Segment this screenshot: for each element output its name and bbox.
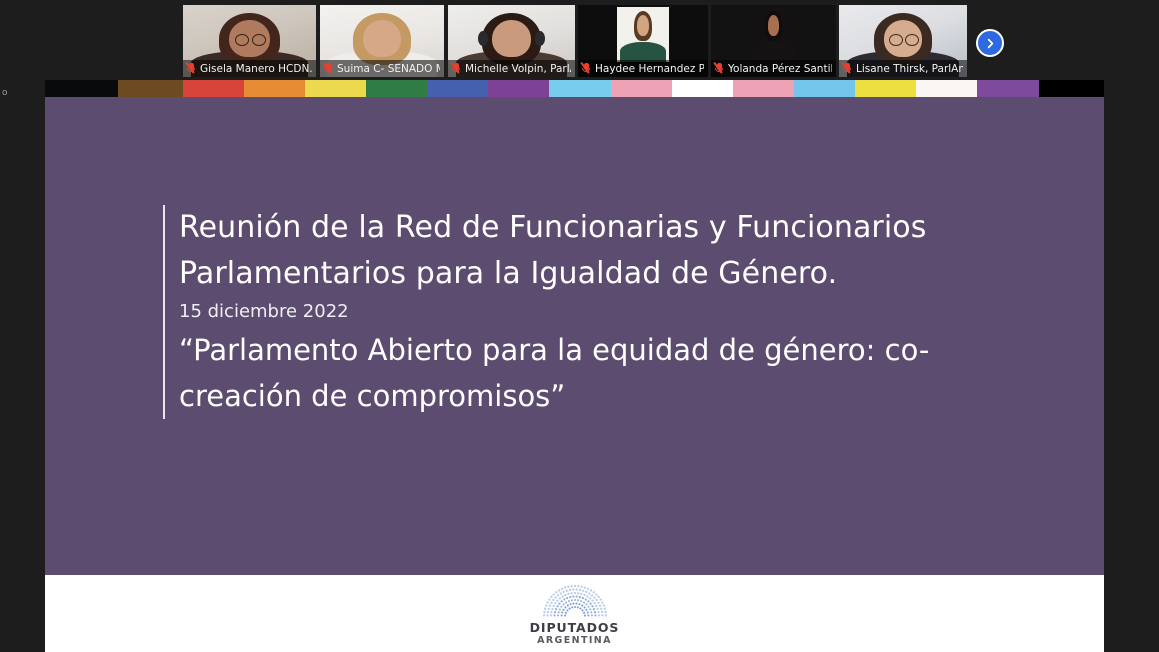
footer-country-name: ARGENTINA (537, 635, 612, 647)
person-shoulders (620, 42, 666, 62)
participant-tile[interactable]: Michelle Volpin, ParlA... (448, 5, 575, 77)
pride-stripe-band (45, 80, 1104, 97)
participant-name: Haydee Hernandez P... (595, 63, 704, 75)
person-face (363, 20, 401, 57)
participant-name-bar: Lisane Thirsk, ParlAm... (839, 60, 967, 77)
stripe-9 (549, 80, 610, 97)
slide-title-block: Reunión de la Red de Funcionarias y Func… (163, 205, 1039, 419)
stripe-3 (183, 80, 244, 97)
slide-title-line-2: Parlamentarios para la Igualdad de Géner… (179, 251, 1039, 297)
stripe-8 (488, 80, 549, 97)
inset-photo (749, 7, 799, 62)
participant-filmstrip: Gisela Manero HCDN...Suima C- SENADO MXM… (0, 0, 1159, 80)
stripe-16 (977, 80, 1038, 97)
slide-footer: DIPUTADOS ARGENTINA (45, 575, 1104, 652)
participant-name: Suima C- SENADO MX (337, 63, 440, 75)
slide-subtitle-line-1: “Parlamento Abierto para la equidad de g… (179, 327, 1039, 373)
person-shoulders (752, 42, 796, 62)
mic-muted-icon (452, 63, 461, 75)
stripe-4 (244, 80, 305, 97)
slide-title-line-1: Reunión de la Red de Funcionarias y Func… (179, 205, 1039, 251)
participant-name-bar: Suima C- SENADO MX (320, 60, 444, 77)
mic-muted-icon (582, 63, 591, 75)
stripe-14 (855, 80, 916, 97)
person-face (492, 20, 531, 57)
stripe-17 (1039, 80, 1104, 97)
participant-tile[interactable]: Yolanda Pérez Santill... (711, 5, 836, 77)
participant-name: Lisane Thirsk, ParlAm... (856, 63, 963, 75)
participant-tile[interactable]: Lisane Thirsk, ParlAm... (839, 5, 967, 77)
stripe-5 (305, 80, 366, 97)
stripe-2 (118, 80, 182, 97)
shared-screen-slide[interactable]: Reunión de la Red de Funcionarias y Func… (45, 80, 1104, 652)
slide-subtitle-line-2: creación de compromisos” (179, 373, 1039, 419)
chevron-right-icon (984, 37, 997, 50)
clipped-left-text-fragment: o (2, 88, 12, 98)
next-participants-page-button[interactable] (976, 29, 1004, 57)
participant-tile[interactable]: Suima C- SENADO MX (320, 5, 444, 77)
participant-name-bar: Haydee Hernandez P... (578, 60, 708, 77)
mic-muted-icon (187, 63, 196, 75)
eyeglasses-icon (905, 34, 919, 46)
stripe-1 (45, 80, 118, 97)
eyeglasses-icon (889, 34, 903, 46)
mic-muted-icon (324, 63, 333, 75)
participant-tile[interactable]: Gisela Manero HCDN... (183, 5, 316, 77)
stripe-10 (611, 80, 672, 97)
stripe-6 (366, 80, 427, 97)
participant-name-bar: Michelle Volpin, ParlA... (448, 60, 575, 77)
mic-muted-icon (843, 63, 852, 75)
person-face (637, 15, 649, 36)
footer-organization-name: DIPUTADOS (530, 620, 620, 635)
participant-name: Yolanda Pérez Santill... (728, 63, 832, 75)
slide-date: 15 diciembre 2022 (179, 297, 1039, 327)
headphone-cup-icon (535, 31, 545, 46)
inset-photo (617, 7, 669, 62)
stripe-7 (427, 80, 488, 97)
stripe-11 (672, 80, 733, 97)
participant-tile[interactable]: Haydee Hernandez P... (578, 5, 708, 77)
stripe-12 (733, 80, 794, 97)
participant-name-bar: Gisela Manero HCDN... (183, 60, 316, 77)
person-face (768, 15, 780, 36)
stripe-13 (794, 80, 855, 97)
slide-content-panel: Reunión de la Red de Funcionarias y Func… (45, 97, 1104, 575)
participant-name-bar: Yolanda Pérez Santill... (711, 60, 836, 77)
meeting-window: Gisela Manero HCDN...Suima C- SENADO MXM… (0, 0, 1159, 652)
participant-name: Michelle Volpin, ParlA... (465, 63, 571, 75)
stripe-15 (916, 80, 977, 97)
eyeglasses-icon (252, 34, 266, 46)
participant-name: Gisela Manero HCDN... (200, 63, 312, 75)
mic-muted-icon (715, 63, 724, 75)
hemicycle-logo-icon (539, 582, 611, 620)
